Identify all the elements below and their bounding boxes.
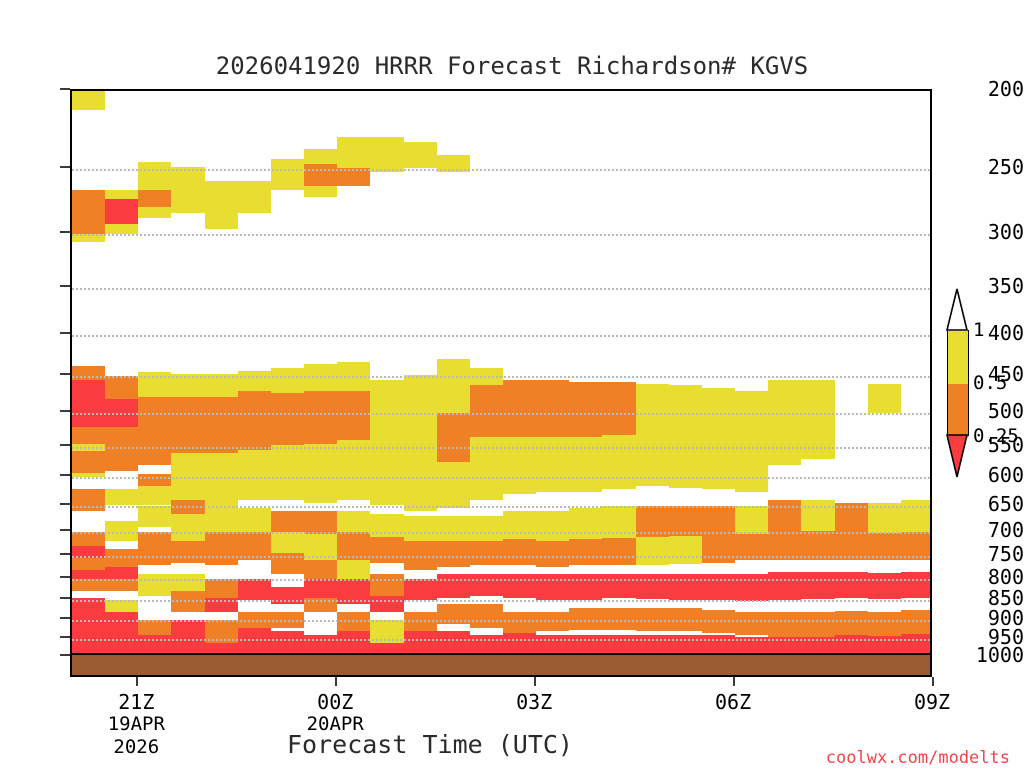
heatmap-cell — [238, 508, 271, 531]
colorbar — [947, 330, 969, 436]
heatmap-cell — [304, 579, 337, 598]
heatmap-cell — [138, 190, 171, 207]
heatmap-cell — [569, 539, 602, 565]
y-gridline — [72, 335, 930, 337]
heatmap-cell — [404, 631, 437, 653]
plot-area — [70, 89, 932, 655]
heatmap-cell — [138, 620, 171, 635]
heatmap-cell — [171, 514, 204, 542]
y-tick-mark — [60, 373, 70, 375]
heatmap-cell — [702, 506, 735, 535]
heatmap-cell — [72, 427, 105, 444]
heatmap-cell — [669, 434, 702, 488]
y-gridline — [72, 447, 930, 449]
heatmap-cell — [138, 574, 171, 596]
heatmap-cell — [105, 190, 138, 199]
x-tick-label: 09Z — [872, 690, 992, 714]
heatmap-cell — [470, 635, 503, 653]
heatmap-cell — [337, 560, 370, 578]
heatmap-cell — [271, 532, 304, 554]
heatmap-cell — [404, 142, 437, 168]
y-tick-label: 750 — [964, 542, 1024, 566]
y-gridline — [72, 506, 930, 508]
y-tick-mark — [60, 553, 70, 555]
heatmap-cell — [503, 539, 536, 565]
y-gridline — [72, 639, 930, 641]
heatmap-cell — [503, 380, 536, 437]
heatmap-cell — [702, 635, 735, 653]
heatmap-cell — [636, 635, 669, 653]
colorbar-segment-orange — [948, 384, 968, 437]
heatmap-cell — [105, 612, 138, 653]
heatmap-cell — [702, 535, 735, 563]
heatmap-cell — [337, 391, 370, 440]
heatmap-cell — [768, 612, 801, 637]
heatmap-cell — [72, 570, 105, 579]
heatmap-cell — [735, 612, 768, 635]
y-tick-mark — [60, 576, 70, 578]
heatmap-cell — [735, 506, 768, 535]
heatmap-cell — [901, 610, 930, 634]
y-tick-mark — [60, 88, 70, 90]
heatmap-cell — [271, 445, 304, 500]
x-tick-label: 03Z — [474, 690, 594, 714]
heatmap-cell — [138, 474, 171, 486]
heatmap-cell — [271, 159, 304, 189]
y-tick-mark — [60, 654, 70, 656]
colorbar-segment-yellow — [948, 331, 968, 384]
heatmap-cell — [105, 224, 138, 234]
heatmap-cell — [238, 371, 271, 391]
heatmap-cell — [669, 635, 702, 653]
heatmap-cell — [138, 506, 171, 527]
x-tick-mark — [136, 677, 138, 686]
y-tick-mark — [60, 285, 70, 287]
x-tick-label: 06Z — [673, 690, 793, 714]
heatmap-cell — [835, 611, 868, 635]
heatmap-cell — [304, 560, 337, 578]
heatmap-cell — [569, 382, 602, 437]
heatmap-cell — [437, 631, 470, 653]
y-tick-label: 1000 — [964, 643, 1024, 667]
heatmap-cell — [835, 572, 868, 598]
plot-clip — [72, 91, 930, 653]
colorbar-tick-label: 0.5 — [973, 372, 1007, 394]
heatmap-cell — [105, 489, 138, 506]
x-tick-label: 21Z — [76, 690, 196, 714]
y-tick-mark — [60, 529, 70, 531]
heatmap-cell — [171, 574, 204, 591]
heatmap-cell — [602, 608, 635, 630]
chart-root: 2026041920 HRRR Forecast Richardson# KGV… — [0, 0, 1024, 768]
heatmap-cell — [536, 511, 569, 542]
colorbar-arrow-lower — [946, 434, 968, 478]
heatmap-cell — [171, 620, 204, 653]
heatmap-cell — [404, 413, 437, 465]
heatmap-cell — [404, 375, 437, 414]
heatmap-cell — [105, 376, 138, 399]
y-tick-mark — [60, 332, 70, 334]
y-tick-mark — [60, 503, 70, 505]
heatmap-cell — [105, 549, 138, 568]
y-tick-mark — [60, 636, 70, 638]
y-tick-mark — [60, 410, 70, 412]
heatmap-cell — [503, 511, 536, 539]
heatmap-cell — [304, 186, 337, 197]
heatmap-cell — [370, 137, 403, 172]
x-tick-mark — [335, 677, 337, 686]
heatmap-cell — [801, 380, 834, 413]
y-gridline — [72, 288, 930, 290]
heatmap-cell — [636, 537, 669, 566]
watermark: coolwx.com/modelts — [826, 748, 1010, 768]
y-gridline — [72, 556, 930, 558]
heatmap-cell — [105, 427, 138, 471]
heatmap-cell — [569, 608, 602, 630]
y-tick-label: 600 — [964, 463, 1024, 487]
heatmap-cell — [304, 511, 337, 534]
heatmap-cell — [503, 612, 536, 633]
heatmap-cell — [238, 450, 271, 500]
heatmap-cell — [271, 368, 304, 393]
heatmap-cell — [138, 532, 171, 566]
colorbar-tick-label: 1 — [973, 319, 984, 341]
y-tick-label: 650 — [964, 492, 1024, 516]
heatmap-cell — [801, 572, 834, 599]
heatmap-cell — [205, 181, 238, 229]
heatmap-cell — [72, 598, 105, 653]
heatmap-cell — [801, 413, 834, 459]
y-tick-label: 300 — [964, 220, 1024, 244]
heatmap-cell — [138, 397, 171, 465]
y-tick-mark — [60, 597, 70, 599]
heatmap-cell — [304, 391, 337, 443]
y-tick-mark — [60, 617, 70, 619]
heatmap-cell — [271, 511, 304, 532]
heatmap-cell — [470, 604, 503, 628]
heatmap-cell — [868, 612, 901, 636]
heatmap-cell — [105, 199, 138, 224]
y-gridline — [72, 413, 930, 415]
heatmap-cell — [72, 380, 105, 427]
heatmap-cell — [337, 631, 370, 653]
page-title: 2026041920 HRRR Forecast Richardson# KGV… — [0, 52, 1024, 80]
y-tick-label: 250 — [964, 155, 1024, 179]
heatmap-cell — [304, 164, 337, 186]
heatmap-cell — [205, 532, 238, 566]
heatmap-cell — [702, 388, 735, 435]
heatmap-cell — [536, 437, 569, 492]
heatmap-cell — [205, 397, 238, 453]
heatmap-cell — [238, 181, 271, 214]
heatmap-cell — [304, 149, 337, 164]
colorbar-arrow-upper-outline — [946, 288, 968, 331]
heatmap-cell — [536, 380, 569, 437]
heatmap-cell — [72, 451, 105, 473]
heatmap-cell — [271, 631, 304, 653]
heatmap-cell — [901, 572, 930, 598]
x-tick-mark — [932, 677, 934, 686]
heatmap-cell — [602, 435, 635, 489]
heatmap-cell — [503, 633, 536, 653]
heatmap-cell — [72, 190, 105, 234]
y-gridline — [72, 579, 930, 581]
heatmap-cell — [205, 643, 238, 653]
heatmap-cell — [238, 391, 271, 449]
heatmap-cell — [470, 541, 503, 565]
y-gridline — [72, 620, 930, 622]
heatmap-cell — [602, 382, 635, 435]
heatmap-cell — [901, 634, 930, 653]
heatmap-cell — [470, 385, 503, 437]
heatmap-cell — [205, 579, 238, 598]
heatmap-cell — [370, 643, 403, 653]
heatmap-cell — [437, 541, 470, 567]
heatmap-cell — [337, 137, 370, 168]
heatmap-cell — [337, 511, 370, 532]
heatmap-cell — [72, 91, 105, 110]
terrain-strip — [70, 655, 932, 677]
heatmap-cell — [470, 516, 503, 541]
heatmap-cell — [171, 541, 204, 562]
heatmap-cell — [404, 516, 437, 541]
heatmap-cell — [138, 486, 171, 505]
y-gridline — [72, 532, 930, 534]
y-tick-label: 200 — [964, 77, 1024, 101]
y-tick-label: 500 — [964, 399, 1024, 423]
y-tick-mark — [60, 231, 70, 233]
heatmap-cell — [569, 437, 602, 492]
y-gridline — [72, 600, 930, 602]
heatmap-cell — [370, 574, 403, 596]
heatmap-cell — [370, 380, 403, 413]
heatmap-cell — [138, 207, 171, 218]
heatmap-cell — [470, 574, 503, 596]
heatmap-cell — [669, 385, 702, 433]
heatmap-cell — [72, 558, 105, 569]
heatmap-cell — [569, 508, 602, 539]
heatmap-cell — [337, 440, 370, 500]
y-tick-mark — [60, 166, 70, 168]
heatmap-cell — [437, 413, 470, 462]
heatmap-cell — [702, 435, 735, 489]
heatmap-cell — [868, 573, 901, 599]
heatmap-cell — [437, 516, 470, 541]
heatmap-cell — [437, 359, 470, 414]
heatmap-cell — [768, 380, 801, 417]
y-tick-label: 350 — [964, 274, 1024, 298]
heatmap-cell — [72, 489, 105, 511]
heatmap-cell — [138, 635, 171, 653]
heatmap-cell — [768, 417, 801, 466]
heatmap-cell — [868, 384, 901, 413]
heatmap-cell — [271, 393, 304, 446]
heatmap-cell — [801, 612, 834, 637]
colorbar-tick-label: 0.25 — [973, 425, 1019, 447]
heatmap-cell — [536, 635, 569, 653]
heatmap-cell — [404, 579, 437, 600]
heatmap-cell — [304, 444, 337, 503]
y-tick-mark — [60, 444, 70, 446]
y-gridline — [72, 477, 930, 479]
heatmap-cell — [105, 567, 138, 578]
x-tick-mark — [733, 677, 735, 686]
heatmap-cell — [636, 384, 669, 434]
heatmap-cell — [370, 537, 403, 563]
heatmap-cell — [72, 532, 105, 547]
heatmap-cell — [735, 391, 768, 440]
heatmap-cell — [602, 538, 635, 566]
heatmap-cell — [503, 437, 536, 494]
heatmap-cell — [171, 167, 204, 213]
y-tick-mark — [60, 474, 70, 476]
x-axis-title: Forecast Time (UTC) — [0, 730, 860, 759]
heatmap-cell — [835, 635, 868, 653]
y-gridline — [72, 376, 930, 378]
heatmap-cell — [171, 397, 204, 453]
x-tick-label: 00Z — [275, 690, 395, 714]
x-tick-mark — [534, 677, 536, 686]
heatmap-cell — [238, 579, 271, 600]
heatmap-cell — [536, 541, 569, 567]
heatmap-cell — [404, 465, 437, 510]
heatmap-cell — [569, 635, 602, 653]
heatmap-cell — [602, 635, 635, 653]
heatmap-cell — [370, 596, 403, 612]
heatmap-cell — [768, 572, 801, 600]
y-gridline — [72, 169, 930, 171]
y-gridline — [72, 234, 930, 236]
heatmap-cell — [304, 635, 337, 653]
heatmap-cell — [437, 462, 470, 508]
y-tick-label: 700 — [964, 518, 1024, 542]
heatmap-cell — [669, 536, 702, 565]
heatmap-cell — [138, 162, 171, 190]
